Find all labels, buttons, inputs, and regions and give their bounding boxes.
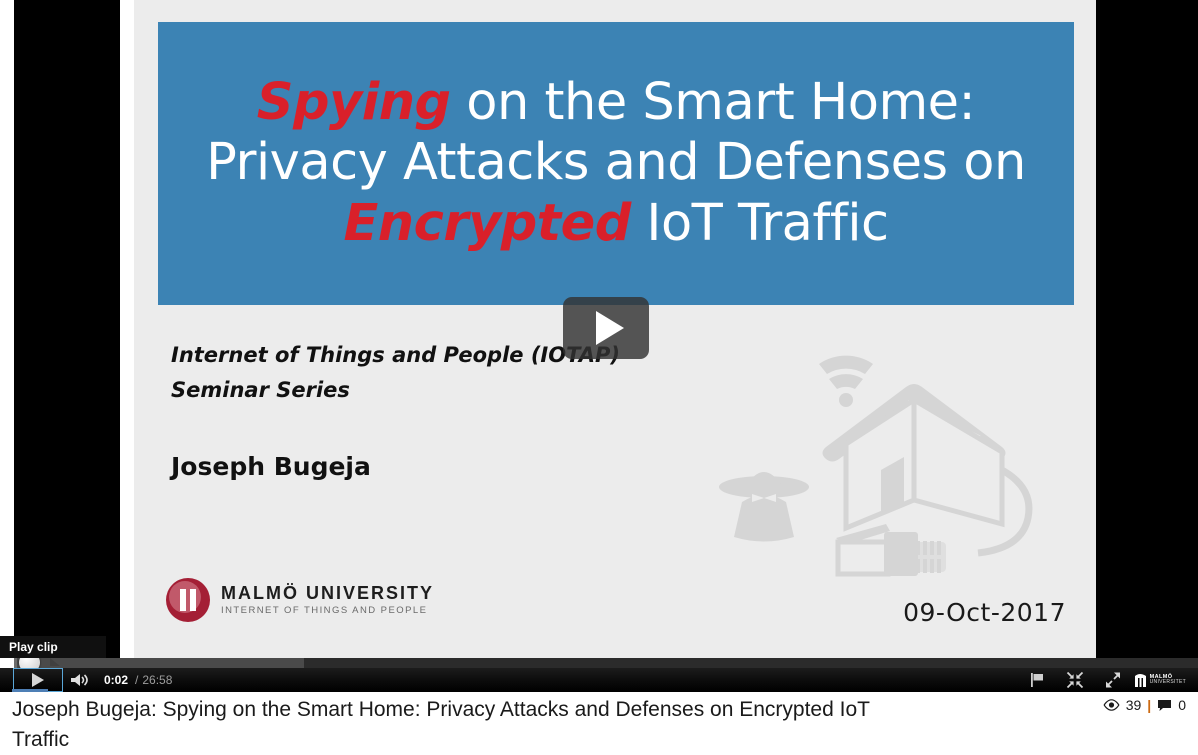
slide-title-banner: Spying on the Smart Home: Privacy Attack… [158,22,1074,305]
left-margin-strip [120,0,134,658]
shrink-arrows-icon [1066,671,1084,689]
comment-icon [1157,699,1172,712]
spy-icon [719,472,809,542]
current-time: 0:02 [104,673,128,687]
slide-date: 09-Oct-2017 [903,598,1066,627]
slide-title-text: Spying on the Smart Home: Privacy Attack… [184,73,1048,254]
illustration-svg [716,352,1066,582]
eye-icon [1103,699,1120,711]
video-stats: 39 | 0 [1103,697,1186,713]
video-title: Joseph Bugeja: Spying on the Smart Home:… [12,695,892,755]
speaker-icon [69,672,89,688]
play-icon [32,673,44,687]
slide-title-segment-0: Spying [257,73,451,132]
seminar-series-line-1: Internet of Things and People (IOTAP) [171,343,620,367]
views-count: 39 [1126,697,1142,713]
toolbar-logo-mark-icon [1134,673,1147,688]
expand-button[interactable] [1094,669,1132,691]
speaker-name: Joseph Bugeja [171,452,371,481]
video-info-area: Joseph Bugeja: Spying on the Smart Home:… [0,692,1198,755]
wifi-icon [819,356,873,407]
controls-right-group: MALMÖ UNIVERSITET [1018,669,1198,691]
play-button[interactable] [14,669,62,691]
play-triangle-icon [596,311,624,345]
malmo-logo-title: MALMÖ UNIVERSITY [221,584,434,603]
flag-button[interactable] [1018,669,1056,691]
malmo-logo-text: MALMÖ UNIVERSITY INTERNET OF THINGS AND … [221,584,434,615]
total-time: 26:58 [142,673,172,687]
video-page: Spying on the Smart Home: Privacy Attack… [0,0,1198,755]
seminar-series-line-2: Seminar Series [171,378,350,402]
slide-title-segment-3: IoT Traffic [631,194,889,253]
slide-title-segment-2: Encrypted [343,194,630,253]
player-controls-bar: 0:02 / 26:58 [0,668,1198,692]
toolbar-logo-text: MALMÖ UNIVERSITET [1150,675,1186,686]
play-overlay-button[interactable] [563,297,649,359]
video-player[interactable]: Spying on the Smart Home: Privacy Attack… [14,0,1198,692]
tooltip-arrow [50,658,60,666]
progress-scrubber[interactable] [14,658,1198,668]
malmo-logo-subtitle: INTERNET OF THINGS AND PEOPLE [221,606,434,616]
progress-played [14,658,17,668]
smart-home-illustration [716,352,1066,582]
shrink-button[interactable] [1056,669,1094,691]
blue-accent-bar [12,689,48,692]
volume-button[interactable] [62,669,96,691]
expand-arrows-icon [1104,671,1122,689]
time-display: 0:02 / 26:58 [104,673,172,687]
stats-divider: | [1147,697,1151,713]
malmo-university-logo: MALMÖ UNIVERSITY INTERNET OF THINGS AND … [166,578,434,622]
toolbar-malmo-logo[interactable]: MALMÖ UNIVERSITET [1132,673,1192,688]
ethernet-plug-icon [836,524,946,576]
comments-count: 0 [1178,697,1186,713]
time-separator: / [135,673,138,687]
toolbar-logo-subtitle: UNIVERSITET [1150,680,1186,685]
flag-icon [1029,672,1045,688]
malmo-logo-mark-icon [166,578,210,622]
play-clip-tooltip: Play clip [0,636,106,658]
